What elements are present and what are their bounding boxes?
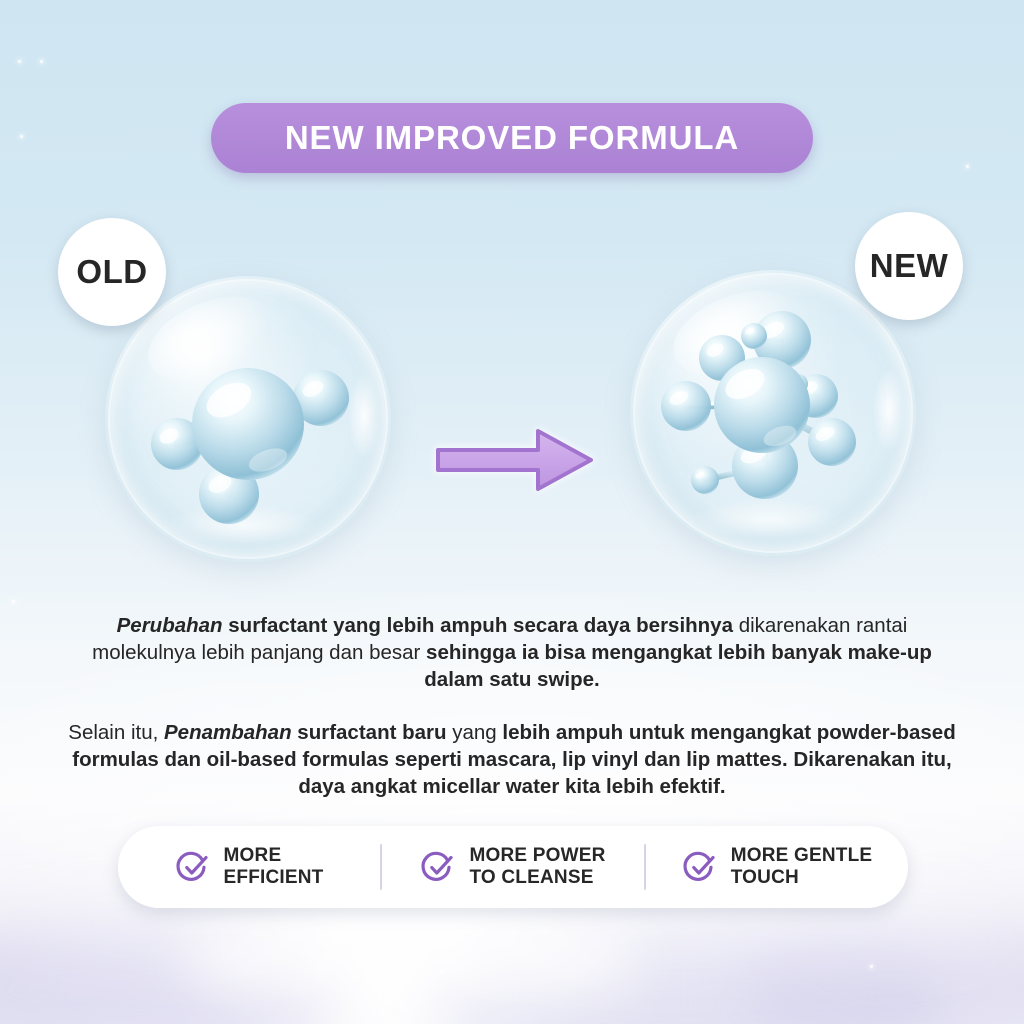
feature-item-power[interactable]: MORE POWERTO CLEANSE (382, 845, 644, 889)
feature-label: MORE POWERTO CLEANSE (469, 845, 605, 889)
p2-regular-b: yang (447, 721, 503, 744)
check-circle-icon (420, 849, 456, 885)
feature-line2: TOUCH (731, 867, 799, 888)
paragraph-2: Selain itu, Penambahan surfactant baru y… (62, 719, 962, 800)
background-wisp (430, 914, 950, 1024)
p2-emphasis: Penambahan (164, 721, 292, 744)
sparkle-dot (12, 600, 15, 603)
p2-regular-a: Selain itu, (68, 721, 164, 744)
new-formula-bubble (630, 270, 916, 556)
p2-bold-a: surfactant baru (292, 721, 447, 744)
feature-label: MOREEFFICIENT (224, 845, 324, 889)
paragraph-1: Perubahan surfactant yang lebih ampuh se… (62, 612, 962, 693)
body-copy: Perubahan surfactant yang lebih ampuh se… (62, 612, 962, 800)
feature-line1: MORE GENTLE (731, 845, 873, 866)
new-badge-label: NEW (870, 247, 949, 285)
p1-bold-a: surfactant yang lebih ampuh secara daya … (223, 614, 733, 637)
old-molecule-graphic (105, 276, 391, 562)
title-banner: NEW IMPROVED FORMULA (211, 103, 813, 173)
feature-bar: MOREEFFICIENT MORE POWERTO CLEANSE MORE … (118, 826, 908, 908)
p1-emphasis: Perubahan (117, 614, 223, 637)
feature-item-efficient[interactable]: MOREEFFICIENT (118, 845, 380, 889)
old-badge-label: OLD (76, 253, 147, 291)
feature-line2: TO CLEANSE (469, 867, 593, 888)
check-circle-icon (175, 849, 211, 885)
feature-line1: MORE POWER (469, 845, 605, 866)
sparkle-dot (966, 165, 969, 168)
old-formula-bubble (105, 276, 391, 562)
right-arrow-icon (428, 423, 600, 497)
background-wisp (734, 914, 1024, 1024)
new-badge: NEW (855, 212, 963, 320)
sparkle-dot (20, 135, 23, 138)
sparkle-dot (870, 965, 873, 968)
sparkle-dot (440, 970, 443, 973)
feature-label: MORE GENTLETOUCH (731, 845, 873, 889)
background-wisp (0, 914, 340, 1024)
sparkle-dot (18, 60, 21, 63)
poster-canvas: NEW IMPROVED FORMULA (0, 0, 1024, 1024)
feature-line2: EFFICIENT (224, 867, 324, 888)
feature-line1: MORE (224, 845, 282, 866)
p1-bold-b: sehingga ia bisa mengangkat lebih banyak… (420, 641, 932, 691)
background-wisp (180, 904, 640, 1014)
sparkle-dot (40, 60, 43, 63)
feature-item-gentle[interactable]: MORE GENTLETOUCH (646, 845, 908, 889)
check-circle-icon (682, 849, 718, 885)
new-molecule-graphic (630, 270, 916, 556)
banner-title: NEW IMPROVED FORMULA (285, 119, 739, 157)
old-badge: OLD (58, 218, 166, 326)
